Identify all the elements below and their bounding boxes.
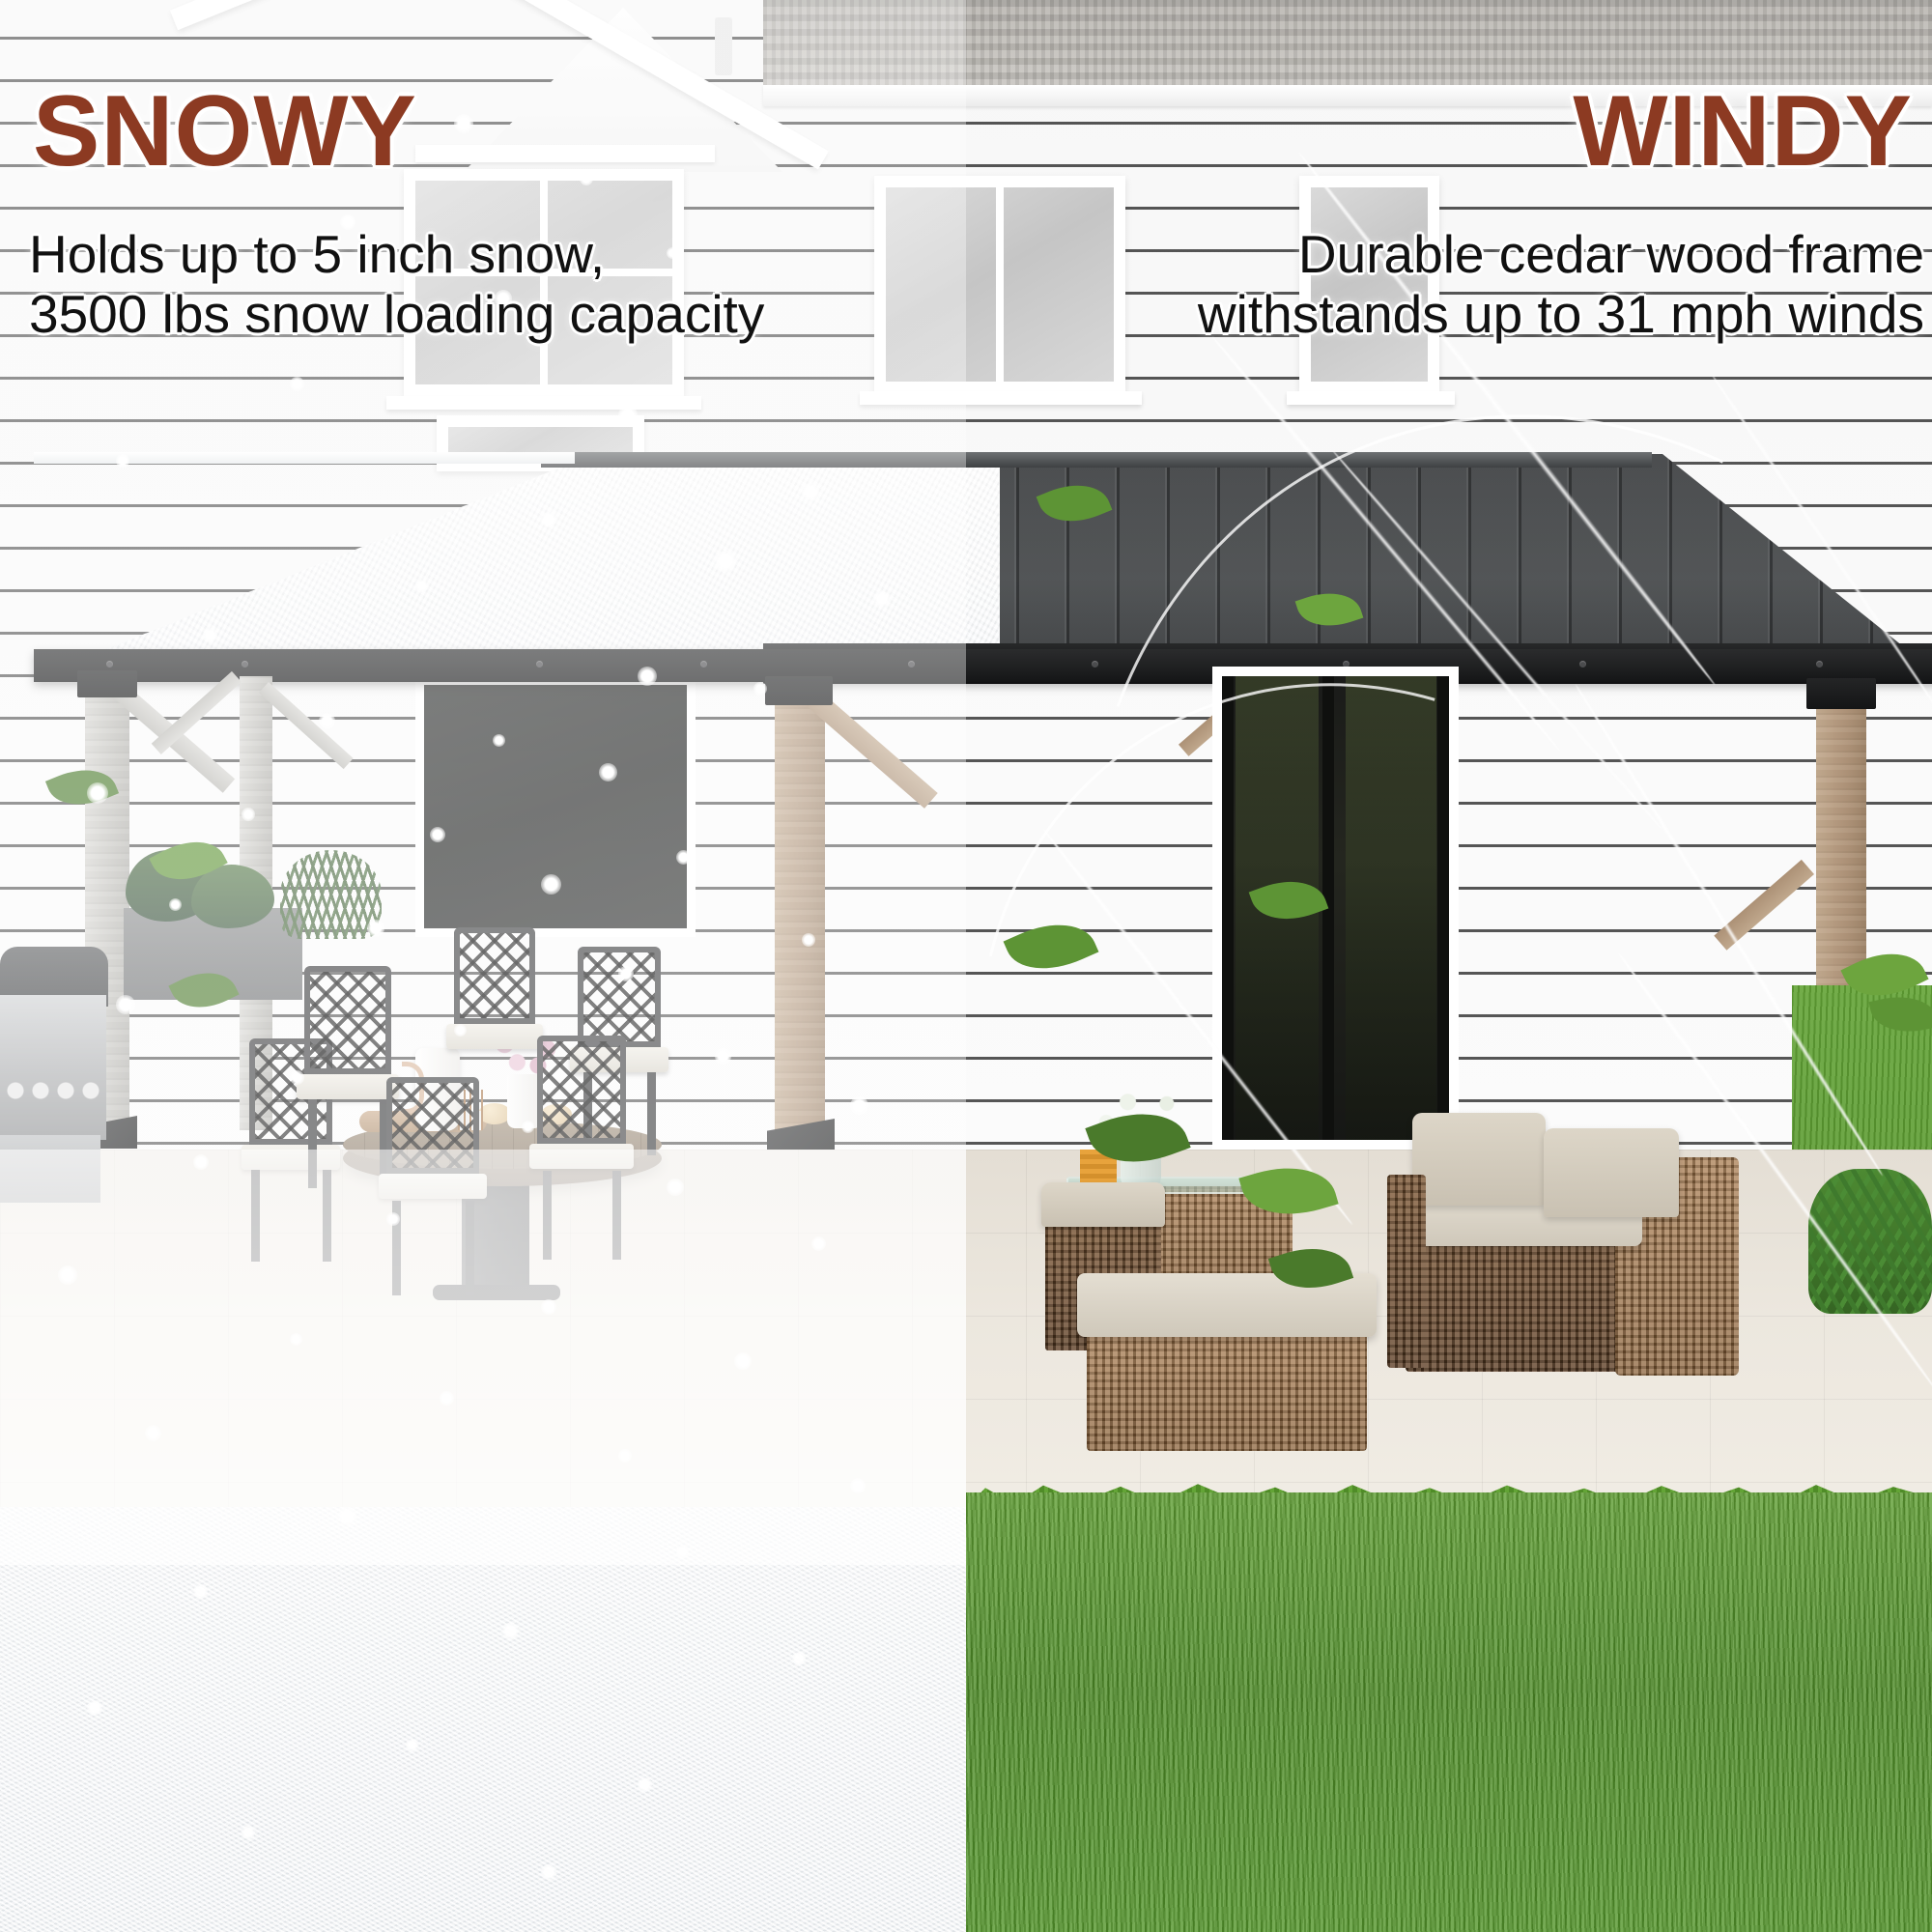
gable-trim-board bbox=[415, 145, 715, 162]
grill-control-knobs bbox=[4, 1082, 100, 1099]
gazebo-roof-ridge-snow bbox=[34, 452, 575, 464]
gazebo-post-bracket bbox=[77, 670, 137, 697]
body-line-2: 3500 lbs snow loading capacity bbox=[29, 284, 792, 344]
headline-snowy: SNOWY bbox=[33, 81, 417, 182]
snow-covered-lawn bbox=[0, 1507, 966, 1932]
gazebo-post-center-right bbox=[775, 682, 825, 1146]
body-text-windy: Durable cedar wood frame withstands up t… bbox=[833, 224, 1924, 344]
snow-covered-patio bbox=[0, 1150, 966, 1565]
dining-chair bbox=[454, 927, 535, 1024]
house-window-sill bbox=[386, 396, 701, 410]
body-line-1: Holds up to 5 inch snow, bbox=[29, 224, 792, 284]
ornamental-grass bbox=[280, 850, 382, 939]
gable-vent bbox=[715, 17, 732, 75]
patio-sliding-door-left bbox=[415, 676, 696, 937]
house-window-sill bbox=[1287, 391, 1455, 405]
product-feature-image: SNOWY Holds up to 5 inch snow, 3500 lbs … bbox=[0, 0, 1932, 1932]
outdoor-grill-body bbox=[0, 995, 106, 1140]
dining-chair bbox=[304, 966, 391, 1074]
house-window-sill bbox=[860, 391, 1142, 405]
gazebo-post-bracket bbox=[765, 676, 833, 705]
headline-windy: WINDY bbox=[1573, 81, 1913, 182]
body-text-snowy: Holds up to 5 inch snow, 3500 lbs snow l… bbox=[29, 224, 792, 344]
body-line-1: Durable cedar wood frame bbox=[833, 224, 1924, 284]
dining-chair bbox=[537, 1036, 626, 1144]
green-lawn bbox=[966, 1492, 1932, 1932]
dining-chair bbox=[578, 947, 661, 1047]
bread-roll bbox=[478, 1103, 511, 1124]
body-line-2: withstands up to 31 mph winds bbox=[833, 284, 1924, 344]
